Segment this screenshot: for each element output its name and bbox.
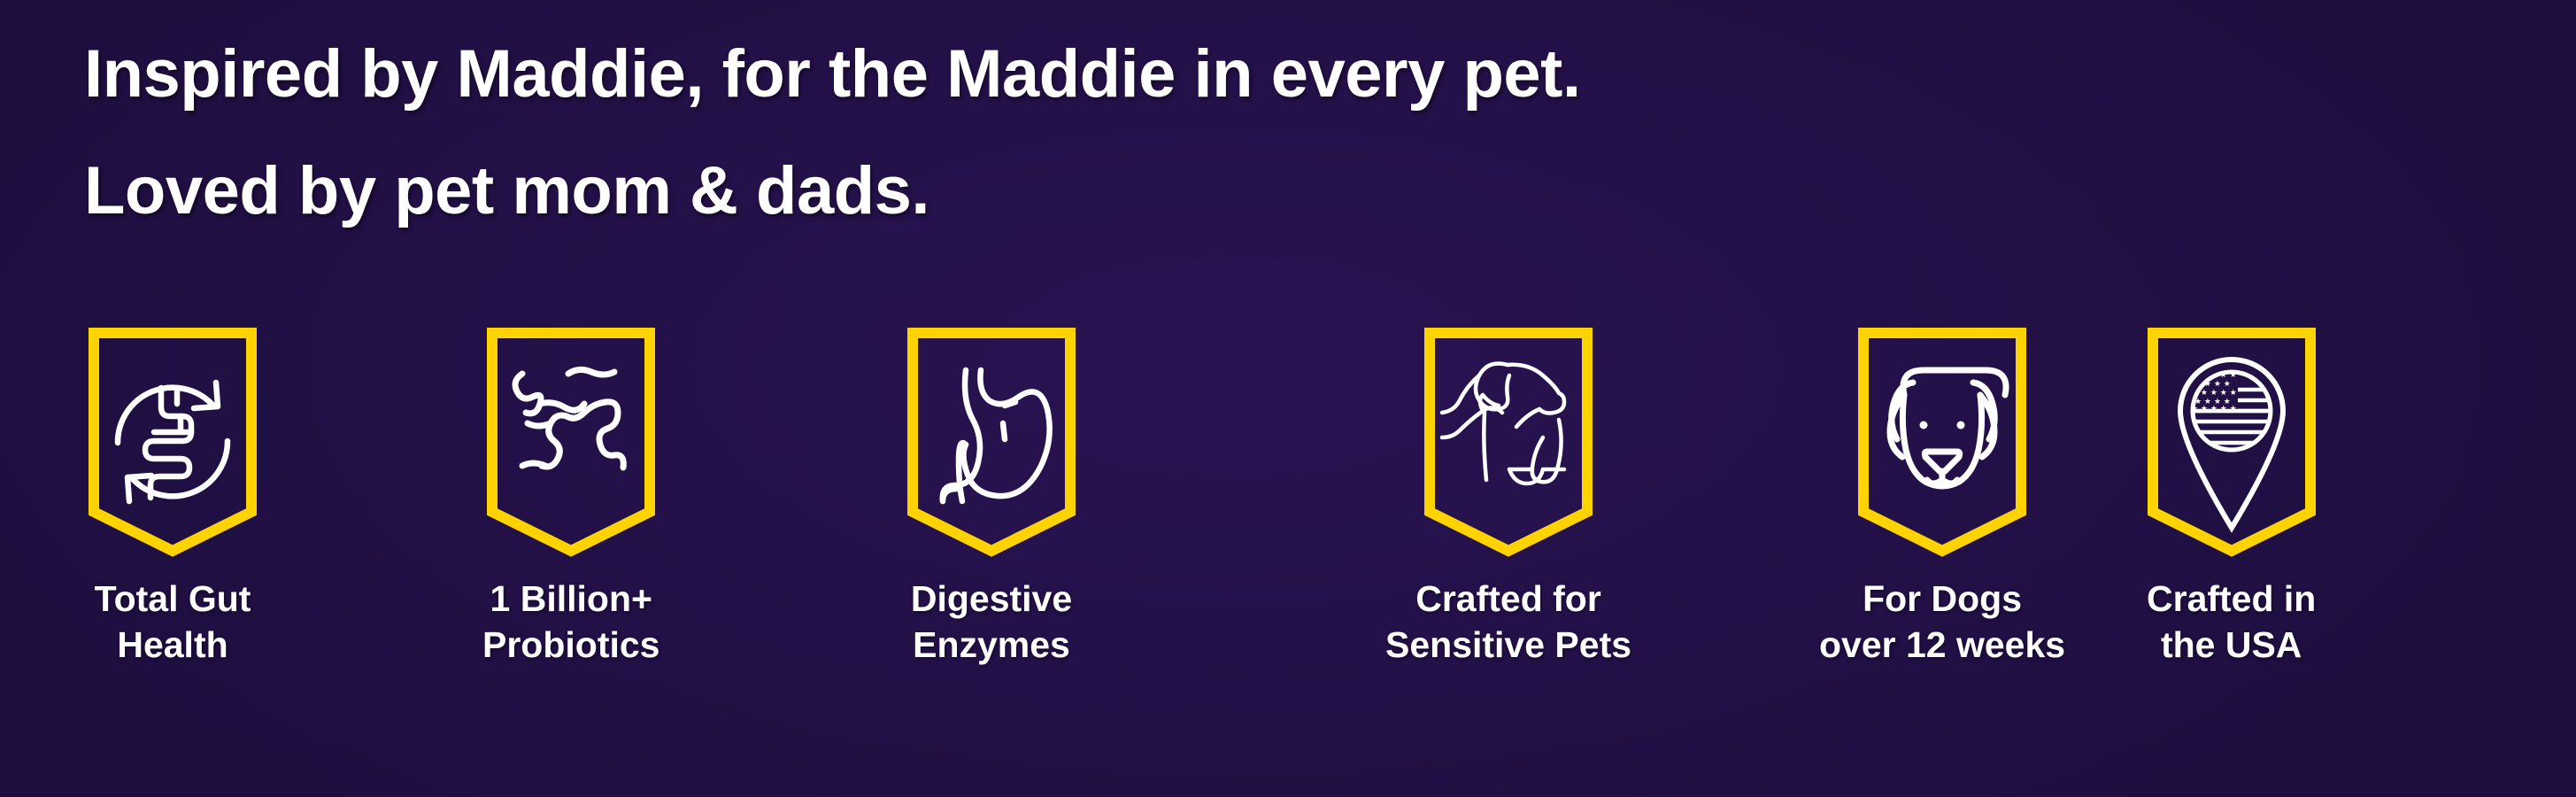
badge-label-line-1: 1 Billion+ — [490, 578, 652, 619]
dog-cat-icon — [1442, 364, 1564, 484]
dog-face-icon — [1890, 370, 2006, 486]
shield-frame — [1424, 328, 1593, 556]
badge-label: For Dogs over 12 weeks — [1819, 576, 2065, 668]
feature-badge-for-dogs: For Dogs over 12 weeks — [1819, 328, 2065, 668]
badge-label: Digestive Enzymes — [911, 576, 1072, 668]
page-headline: Inspired by Maddie, for the Maddie in ev… — [84, 16, 1581, 250]
feature-badge-row: Total Gut Health — [0, 328, 2576, 726]
feature-badge-crafted-in-usa: ★ ★ ★ ★ ★ ★ ★ ★ ★ ★ ★ ★ ★ ★ ★ ★ ★ ★ ★ ★ … — [2147, 328, 2316, 668]
badge-label: Total Gut Health — [95, 576, 251, 668]
badge-label-line-2: the USA — [2147, 622, 2316, 668]
stomach-icon — [943, 370, 1050, 501]
feature-badge-digestive-enzymes: Digestive Enzymes — [907, 328, 1076, 668]
badge-label-line-1: Digestive — [911, 578, 1072, 619]
badge-label: Crafted for Sensitive Pets — [1385, 576, 1631, 668]
promo-banner: Inspired by Maddie, for the Maddie in ev… — [0, 0, 2576, 797]
shield-frame — [89, 328, 257, 556]
badge-label-line-2: Enzymes — [911, 622, 1072, 668]
usa-flag-pin-icon: ★ ★ ★ ★ ★ ★ ★ ★ ★ ★ ★ ★ ★ ★ ★ ★ ★ ★ ★ ★ … — [2180, 360, 2283, 528]
badge-label-line-2: Health — [95, 622, 251, 668]
probiotics-bacteria-icon — [515, 369, 623, 468]
badge-label-line-1: Crafted for — [1415, 578, 1601, 619]
shield-frame — [907, 328, 1076, 556]
badge-label-line-2: over 12 weeks — [1819, 622, 2065, 668]
headline-line-2: Loved by pet mom & dads. — [84, 133, 1581, 250]
shield-frame: ★ ★ ★ ★ ★ ★ ★ ★ ★ ★ ★ ★ ★ ★ ★ ★ ★ ★ ★ ★ … — [2148, 328, 2316, 556]
gut-health-icon — [118, 383, 228, 501]
badge-label-line-1: Crafted in — [2147, 578, 2316, 619]
shield-frame — [1858, 328, 2026, 556]
feature-badge-total-gut-health: Total Gut Health — [89, 328, 257, 668]
badge-label: Crafted in the USA — [2147, 576, 2316, 668]
badge-label: 1 Billion+ Probiotics — [482, 576, 659, 668]
feature-badge-probiotics: 1 Billion+ Probiotics — [482, 328, 659, 668]
badge-label-line-2: Probiotics — [482, 622, 659, 668]
badge-label-line-1: For Dogs — [1863, 578, 2022, 619]
feature-badge-sensitive-pets: Crafted for Sensitive Pets — [1385, 328, 1631, 668]
badge-label-line-2: Sensitive Pets — [1385, 622, 1631, 668]
shield-frame — [487, 328, 655, 556]
headline-line-1: Inspired by Maddie, for the Maddie in ev… — [84, 16, 1581, 133]
badge-label-line-1: Total Gut — [95, 578, 251, 619]
